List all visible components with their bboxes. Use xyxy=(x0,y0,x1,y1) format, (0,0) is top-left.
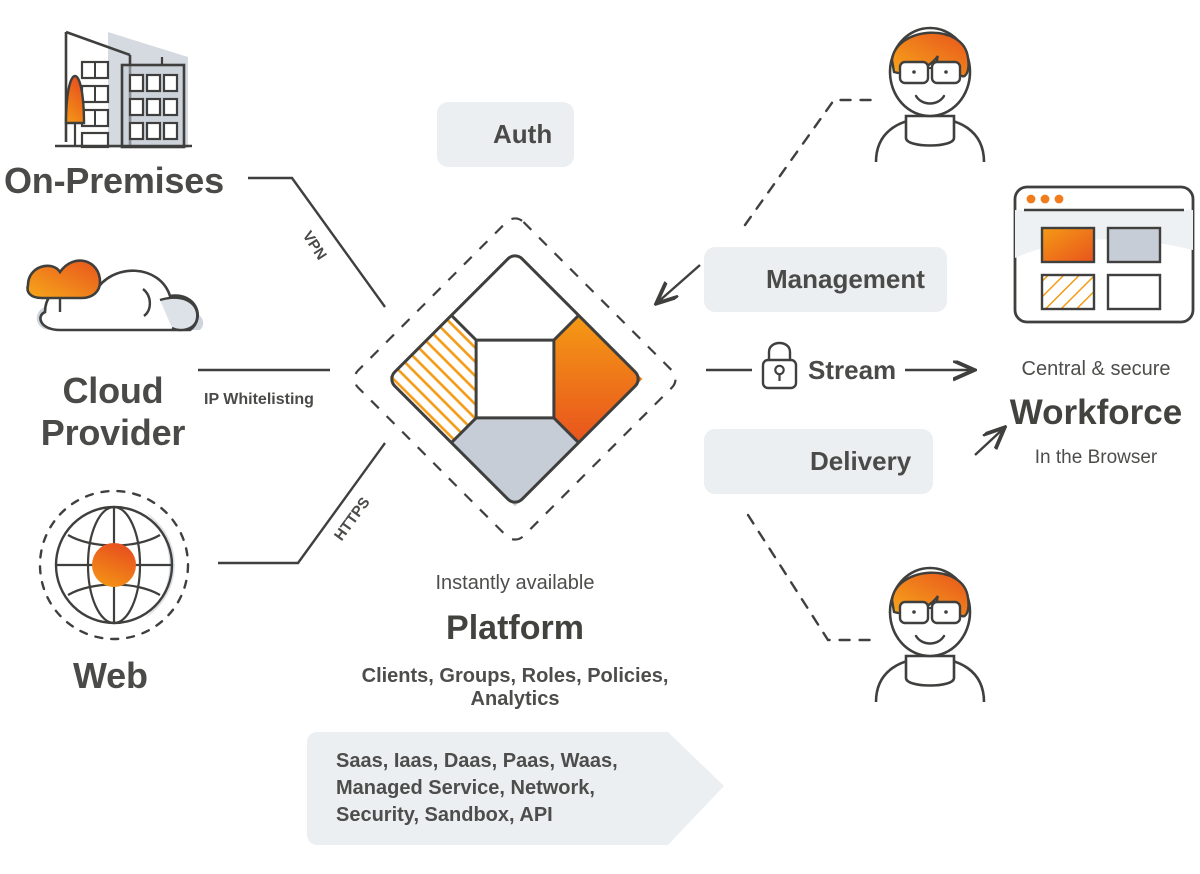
services-line-3: Security, Sandbox, API xyxy=(336,802,676,829)
browser-window-icon xyxy=(1015,187,1193,322)
capability-badge-management[interactable]: Management xyxy=(704,247,947,312)
cloud-icon xyxy=(28,261,204,330)
capability-label-management: Management xyxy=(766,264,925,295)
capability-badge-auth[interactable]: Auth xyxy=(437,102,574,167)
platform-title: Platform xyxy=(315,607,715,650)
globe-icon xyxy=(40,491,188,639)
workforce-title: Workforce xyxy=(990,391,1200,435)
cloud-label-line2: Provider xyxy=(38,412,188,454)
platform-features: Clients, Groups, Roles, Policies, Analyt… xyxy=(315,665,715,711)
services-callout[interactable]: Saas, Iaas, Daas, Paas, Waas, Managed Se… xyxy=(336,748,676,829)
person-avatar-icon-bottom xyxy=(876,568,984,702)
capability-badge-stream[interactable]: Stream xyxy=(808,345,896,395)
workforce-browser-label: In the Browser xyxy=(990,447,1200,469)
source-label-cloud-provider[interactable]: Cloud Provider xyxy=(38,370,188,454)
dashed-connector-bottom-user xyxy=(748,515,878,640)
platform-sub-label: Instantly available xyxy=(315,572,715,595)
arrow-to-platform xyxy=(658,265,700,302)
platform-caption: Instantly available Platform Clients, Gr… xyxy=(315,572,715,711)
source-label-web[interactable]: Web xyxy=(73,655,148,697)
workforce-caption: Central & secure Workforce In the Browse… xyxy=(990,358,1200,469)
capability-badge-delivery[interactable]: Delivery xyxy=(704,429,933,494)
diagram-canvas: On-Premises Cloud Provider Web VPN IP Wh… xyxy=(0,0,1200,874)
person-avatar-icon-top xyxy=(876,28,984,162)
locked-padlock-icon xyxy=(763,343,796,388)
capability-label-stream: Stream xyxy=(808,355,896,386)
cloud-label-line1: Cloud xyxy=(38,370,188,412)
office-building-icon xyxy=(55,32,192,148)
dashed-connector-top-user xyxy=(745,100,880,225)
services-line-2: Managed Service, Network, xyxy=(336,775,676,802)
workforce-sub-label: Central & secure xyxy=(990,358,1200,381)
services-line-1: Saas, Iaas, Daas, Paas, Waas, xyxy=(336,748,676,775)
capability-label-auth: Auth xyxy=(493,119,552,150)
platform-diamond xyxy=(350,214,681,545)
capability-label-delivery: Delivery xyxy=(810,446,911,477)
source-label-on-premises[interactable]: On-Premises xyxy=(4,160,224,202)
connector-label-ip-whitelisting: IP Whitelisting xyxy=(204,391,314,409)
